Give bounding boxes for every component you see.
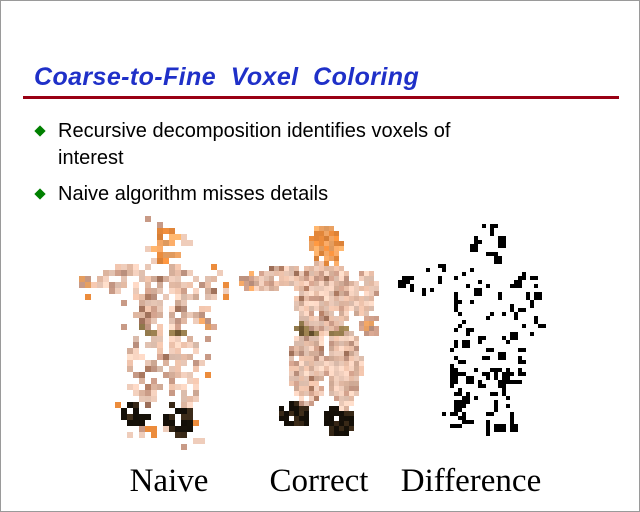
voxel-figure-canvas-naive — [73, 216, 253, 456]
figure-naive — [73, 216, 253, 456]
caption-correct: Correct — [257, 463, 381, 500]
voxel-figure-canvas-difference — [394, 216, 574, 456]
list-item: Naive algorithm misses details — [34, 181, 574, 208]
voxel-figure-canvas-correct — [234, 216, 414, 456]
title-divider — [23, 96, 619, 99]
bullet-text: Naive algorithm misses details — [58, 181, 518, 208]
diamond-bullet-icon — [34, 125, 45, 136]
diamond-bullet-icon — [34, 188, 45, 199]
figure-correct — [234, 216, 414, 456]
bullet-text: Recursive decomposition identifies voxel… — [58, 118, 518, 172]
bullet-list: Recursive decomposition identifies voxel… — [34, 118, 574, 217]
figure-difference — [394, 216, 574, 456]
page-title: Coarse-to-Fine Voxel Coloring — [34, 63, 419, 92]
caption-naive: Naive — [107, 463, 231, 500]
caption-difference: Difference — [397, 463, 545, 500]
slide-canvas: Coarse-to-Fine Voxel Coloring Recursive … — [0, 0, 640, 512]
figure-row — [1, 216, 640, 461]
list-item: Recursive decomposition identifies voxel… — [34, 118, 574, 172]
